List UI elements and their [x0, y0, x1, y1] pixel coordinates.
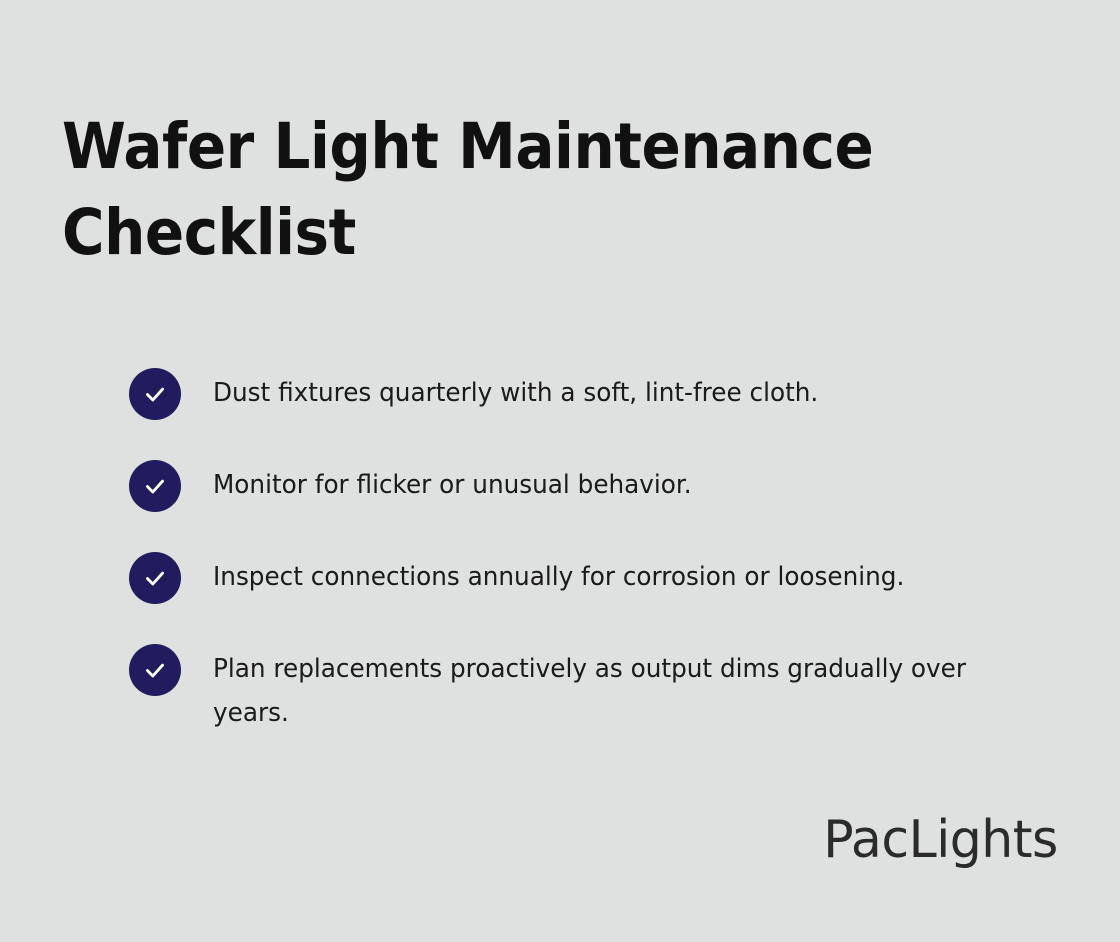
list-item-label: Plan replacements proactively as output … [213, 644, 1026, 735]
list-item-label: Dust fixtures quarterly with a soft, lin… [213, 368, 1026, 415]
maintenance-checklist: Dust fixtures quarterly with a soft, lin… [129, 368, 1069, 735]
check-icon [129, 644, 181, 696]
check-icon [129, 460, 181, 512]
paclights-logo: PacLights [823, 810, 1058, 870]
list-item-label: Inspect connections annually for corrosi… [213, 552, 1026, 599]
list-item: Dust fixtures quarterly with a soft, lin… [129, 368, 1069, 420]
page-title: Wafer Light Maintenance Checklist [62, 104, 890, 276]
list-item: Monitor for flicker or unusual behavior. [129, 460, 1069, 512]
check-icon [129, 368, 181, 420]
list-item-label: Monitor for flicker or unusual behavior. [213, 460, 1026, 507]
list-item: Inspect connections annually for corrosi… [129, 552, 1069, 604]
check-icon [129, 552, 181, 604]
checklist-card: Wafer Light Maintenance Checklist Dust f… [0, 0, 1120, 942]
list-item: Plan replacements proactively as output … [129, 644, 1069, 735]
